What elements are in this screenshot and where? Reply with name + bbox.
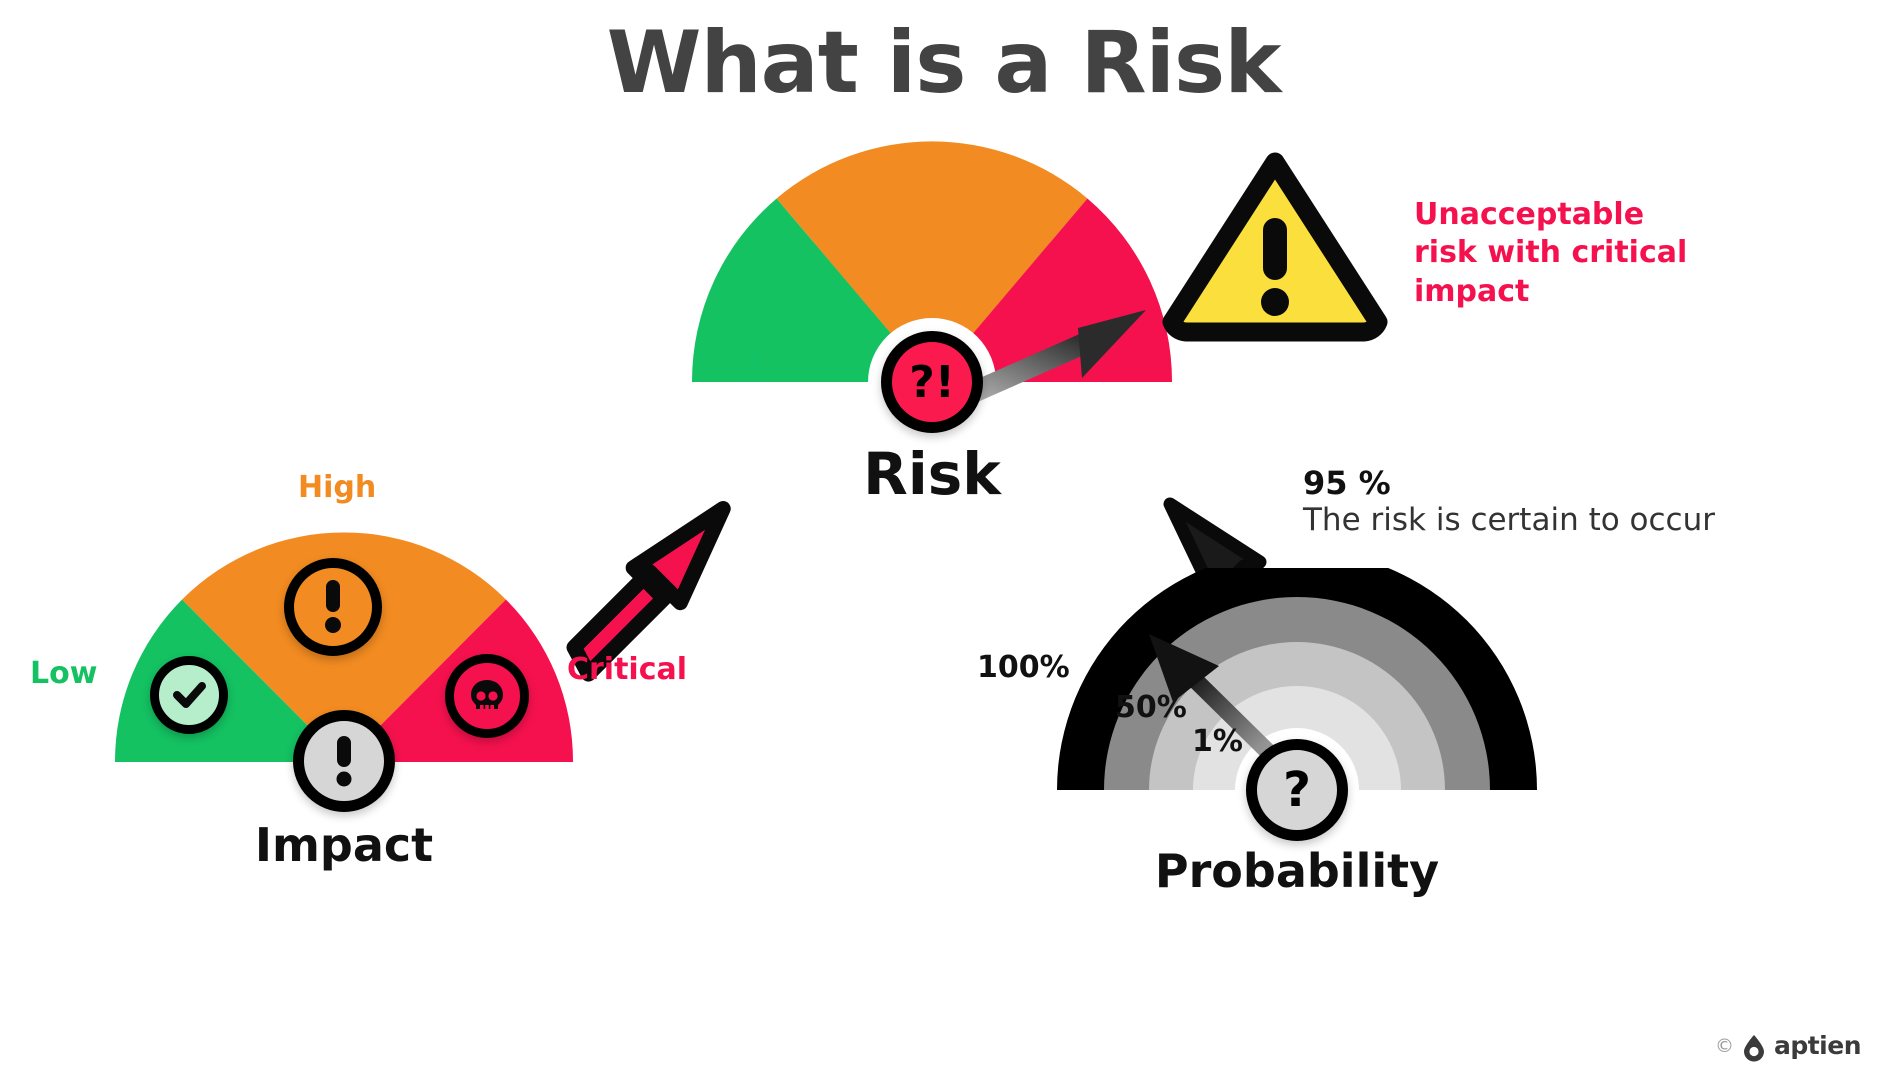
copyright-icon: © bbox=[1715, 1035, 1734, 1057]
callout-text: Unacceptable risk with critical impact bbox=[1414, 196, 1744, 311]
page-title: What is a Risk bbox=[0, 18, 1887, 108]
check-circle-icon[interactable] bbox=[150, 656, 228, 734]
warning-triangle-icon[interactable] bbox=[1160, 150, 1390, 340]
callout-line-2: risk with critical bbox=[1414, 234, 1744, 272]
risk-hub[interactable]: ?! bbox=[881, 331, 983, 433]
callout-line-1: Unacceptable bbox=[1414, 196, 1744, 234]
infographic-canvas: What is a Risk bbox=[0, 0, 1887, 1080]
probability-gauge-label: Probability bbox=[1057, 844, 1537, 898]
probability-hub-label: ? bbox=[1283, 762, 1311, 818]
probability-note-value: 95 % bbox=[1303, 465, 1773, 502]
skull-glyph bbox=[467, 676, 507, 716]
callout-line-3: impact bbox=[1414, 273, 1744, 311]
impact-hub[interactable] bbox=[293, 710, 395, 812]
probability-note: 95 % The risk is certain to occur bbox=[1303, 465, 1773, 539]
aptien-wordmark: aptien bbox=[1774, 1031, 1861, 1060]
skull-circle-icon[interactable] bbox=[445, 654, 529, 738]
impact-label-high: High bbox=[298, 470, 376, 505]
risk-gauge[interactable]: ?! Risk bbox=[652, 140, 1212, 430]
risk-hub-label: ?! bbox=[909, 357, 955, 408]
probability-gauge[interactable]: 100% 50% 1% ? Probability bbox=[1057, 568, 1617, 898]
exclamation-circle-icon[interactable] bbox=[284, 558, 382, 656]
probability-tick-1: 1% bbox=[1192, 724, 1243, 759]
impact-label-critical: Critical bbox=[567, 652, 687, 687]
impact-label-low: Low bbox=[30, 656, 97, 691]
aptien-logo[interactable]: © aptien bbox=[1715, 1031, 1861, 1060]
impact-hub-glyph bbox=[332, 734, 356, 788]
probability-hub[interactable]: ? bbox=[1246, 739, 1348, 841]
probability-tick-50: 50% bbox=[1115, 690, 1187, 725]
impact-gauge-label: Impact bbox=[115, 818, 573, 872]
probability-tick-100: 100% bbox=[977, 650, 1070, 685]
probability-note-description: The risk is certain to occur bbox=[1303, 502, 1773, 539]
exclamation-glyph bbox=[320, 578, 346, 636]
check-glyph bbox=[169, 675, 209, 715]
aptien-drop-icon bbox=[1741, 1033, 1767, 1059]
impact-gauge[interactable]: Low High Critical bbox=[115, 530, 685, 890]
